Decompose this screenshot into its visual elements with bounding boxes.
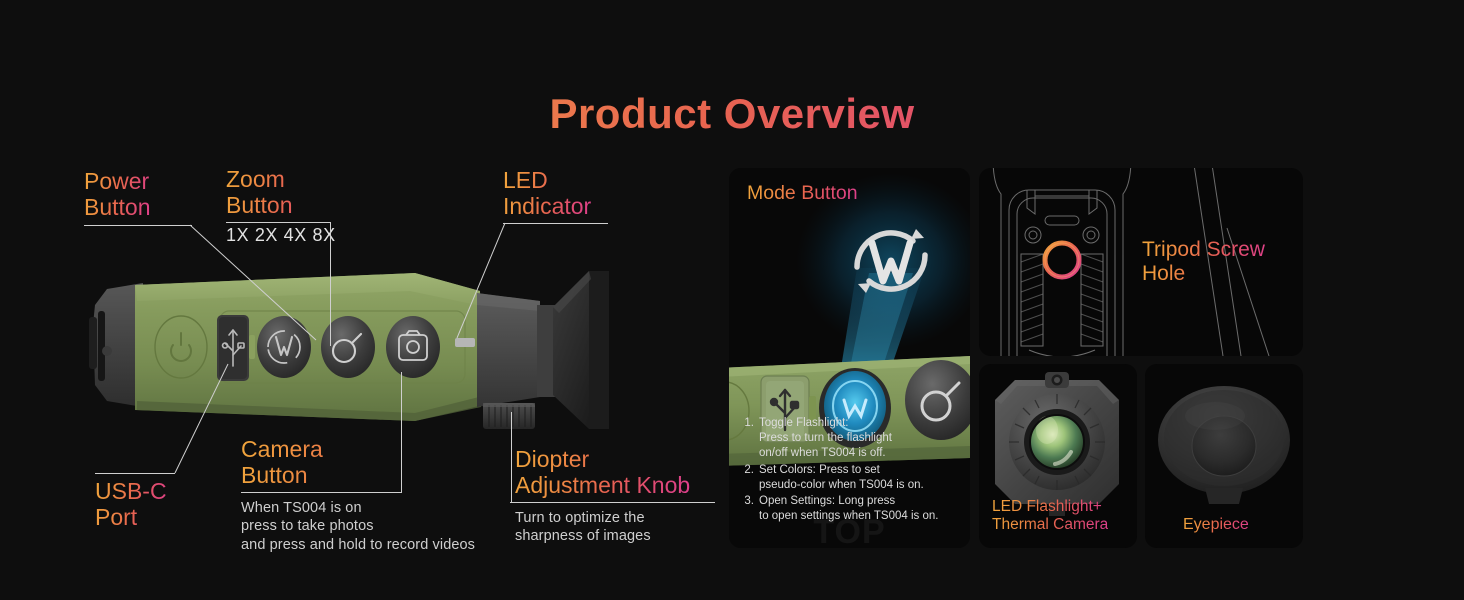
mode-button-panel-title: Mode Button — [747, 182, 858, 204]
callout-camera-button: Camera Button When TS004 is on press to … — [241, 437, 475, 555]
eyecup — [553, 271, 609, 429]
panel-mode-button: Mode Button 1. Toggle Flashlight: Press … — [729, 168, 970, 548]
power-button-label: Power Button — [84, 169, 151, 221]
camera-leader-vertical — [401, 372, 402, 493]
diopter-adjustment-knob[interactable] — [483, 403, 535, 429]
diopter-leader-underline — [510, 502, 715, 503]
usb-c-port-label: USB-C Port — [95, 479, 167, 531]
panel-eyepiece: Eyepiece — [1145, 364, 1303, 548]
led-leader-line — [455, 222, 511, 342]
zoom-leader-underline — [226, 222, 331, 223]
callout-usb-c-port: USB-C Port — [95, 479, 167, 531]
mode-button-steps: 1. Toggle Flashlight: Press to turn the … — [743, 416, 962, 525]
usbc-leader-line — [173, 363, 233, 475]
led-flashlight-icon — [1045, 372, 1069, 388]
led-leader-underline — [503, 223, 608, 224]
camera-leader-underline — [241, 492, 402, 493]
usbc-leader-underline — [95, 473, 175, 474]
tripod-screw-hole-title: Tripod Screw Hole — [1142, 238, 1265, 286]
step-text: Toggle Flashlight: Press to turn the fla… — [759, 416, 892, 462]
diopter-leader-vertical — [511, 412, 512, 503]
zoom-leader-vertical — [330, 222, 331, 346]
page-title: Product Overview — [0, 90, 1464, 138]
diopter-knob-description: Turn to optimize the sharpness of images — [515, 509, 690, 547]
callout-led-indicator: LED Indicator — [503, 168, 591, 220]
eyepiece-title: Eyepiece — [1183, 516, 1249, 534]
zoom-levels-label: 1X 2X 4X 8X — [226, 225, 336, 246]
callout-diopter-knob: Diopter Adjustment Knob Turn to optimize… — [515, 447, 690, 546]
panel-tripod-screw-hole: Tripod Screw Hole — [979, 168, 1303, 356]
watermark: TOP — [729, 513, 970, 548]
led-flashlight-title: LED Flashlight+ Thermal Camera — [992, 498, 1108, 534]
power-leader-underline — [84, 225, 192, 226]
camera-button-label: Camera Button — [241, 437, 475, 489]
led-indicator-label: LED Indicator — [503, 168, 591, 220]
diopter-knob-label: Diopter Adjustment Knob — [515, 447, 690, 499]
list-item: 2. Set Colors: Press to set pseudo-color… — [743, 463, 962, 493]
callout-zoom-button: Zoom Button 1X 2X 4X 8X — [226, 167, 336, 246]
list-item: 1. Toggle Flashlight: Press to turn the … — [743, 416, 962, 462]
panel-led-flashlight-thermal-camera: LED Flashlight+ Thermal Camera — [979, 364, 1137, 548]
device-rear-cap — [89, 283, 143, 407]
zoom-button-label: Zoom Button — [226, 167, 336, 219]
step-number: 1. — [743, 416, 754, 462]
step-text: Set Colors: Press to set pseudo-color wh… — [759, 463, 924, 493]
device-illustration — [85, 255, 645, 445]
callout-power-button: Power Button — [84, 169, 151, 221]
thermal-camera-module — [995, 372, 1119, 516]
camera-button-description: When TS004 is on press to take photos an… — [241, 499, 475, 556]
step-number: 2. — [743, 463, 754, 493]
camera-button[interactable] — [386, 316, 440, 378]
